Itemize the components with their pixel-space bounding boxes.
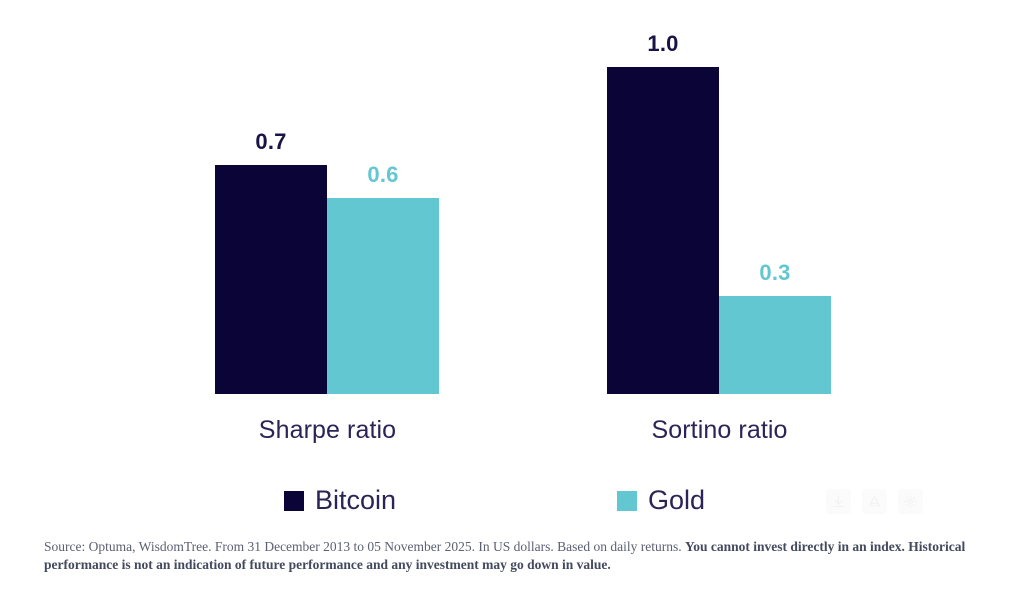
download-icon <box>826 489 851 514</box>
bar-group-sharpe-ratio: 0.7 0.6 Sharpe ratio <box>215 34 440 394</box>
bar-wrap-gold-sortino: 0.3 <box>719 34 831 394</box>
bar-gold-sharpe[interactable] <box>327 198 439 394</box>
legend-label-bitcoin: Bitcoin <box>315 487 396 514</box>
bar-value-gold-sortino: 0.3 <box>719 262 831 284</box>
bar-wrap-bitcoin-sharpe: 0.7 <box>215 34 327 394</box>
bar-value-bitcoin-sortino: 1.0 <box>607 33 719 55</box>
category-label-sharpe-ratio: Sharpe ratio <box>215 416 440 445</box>
legend-label-gold: Gold <box>648 487 705 514</box>
category-label-sortino-ratio: Sortino ratio <box>607 416 832 445</box>
bar-wrap-gold-sharpe: 0.6 <box>327 34 439 394</box>
source-footnote: Source: Optuma, WisdomTree. From 31 Dece… <box>44 538 996 574</box>
bar-bitcoin-sortino[interactable] <box>607 67 719 394</box>
bars-container: 1.0 0.3 <box>607 34 832 394</box>
legend-item-gold[interactable]: Gold <box>617 487 705 514</box>
bars-container: 0.7 0.6 <box>215 34 440 394</box>
watermark-icon-group <box>826 489 923 514</box>
settings-icon <box>898 489 923 514</box>
legend-item-bitcoin[interactable]: Bitcoin <box>284 487 396 514</box>
legend-swatch-bitcoin-icon <box>284 491 304 511</box>
bar-wrap-bitcoin-sortino: 1.0 <box>607 34 719 394</box>
footnote-source-text: Source: Optuma, WisdomTree. From 31 Dece… <box>44 539 685 554</box>
bar-value-gold-sharpe: 0.6 <box>327 164 439 186</box>
bar-chart: 0.7 0.6 Sharpe ratio 1.0 0.3 Sortino rat… <box>0 0 1024 470</box>
bar-bitcoin-sharpe[interactable] <box>215 165 327 394</box>
bar-value-bitcoin-sharpe: 0.7 <box>215 131 327 153</box>
recycle-icon <box>862 489 887 514</box>
bar-gold-sortino[interactable] <box>719 296 831 394</box>
legend-swatch-gold-icon <box>617 491 637 511</box>
bar-group-sortino-ratio: 1.0 0.3 Sortino ratio <box>607 34 832 394</box>
